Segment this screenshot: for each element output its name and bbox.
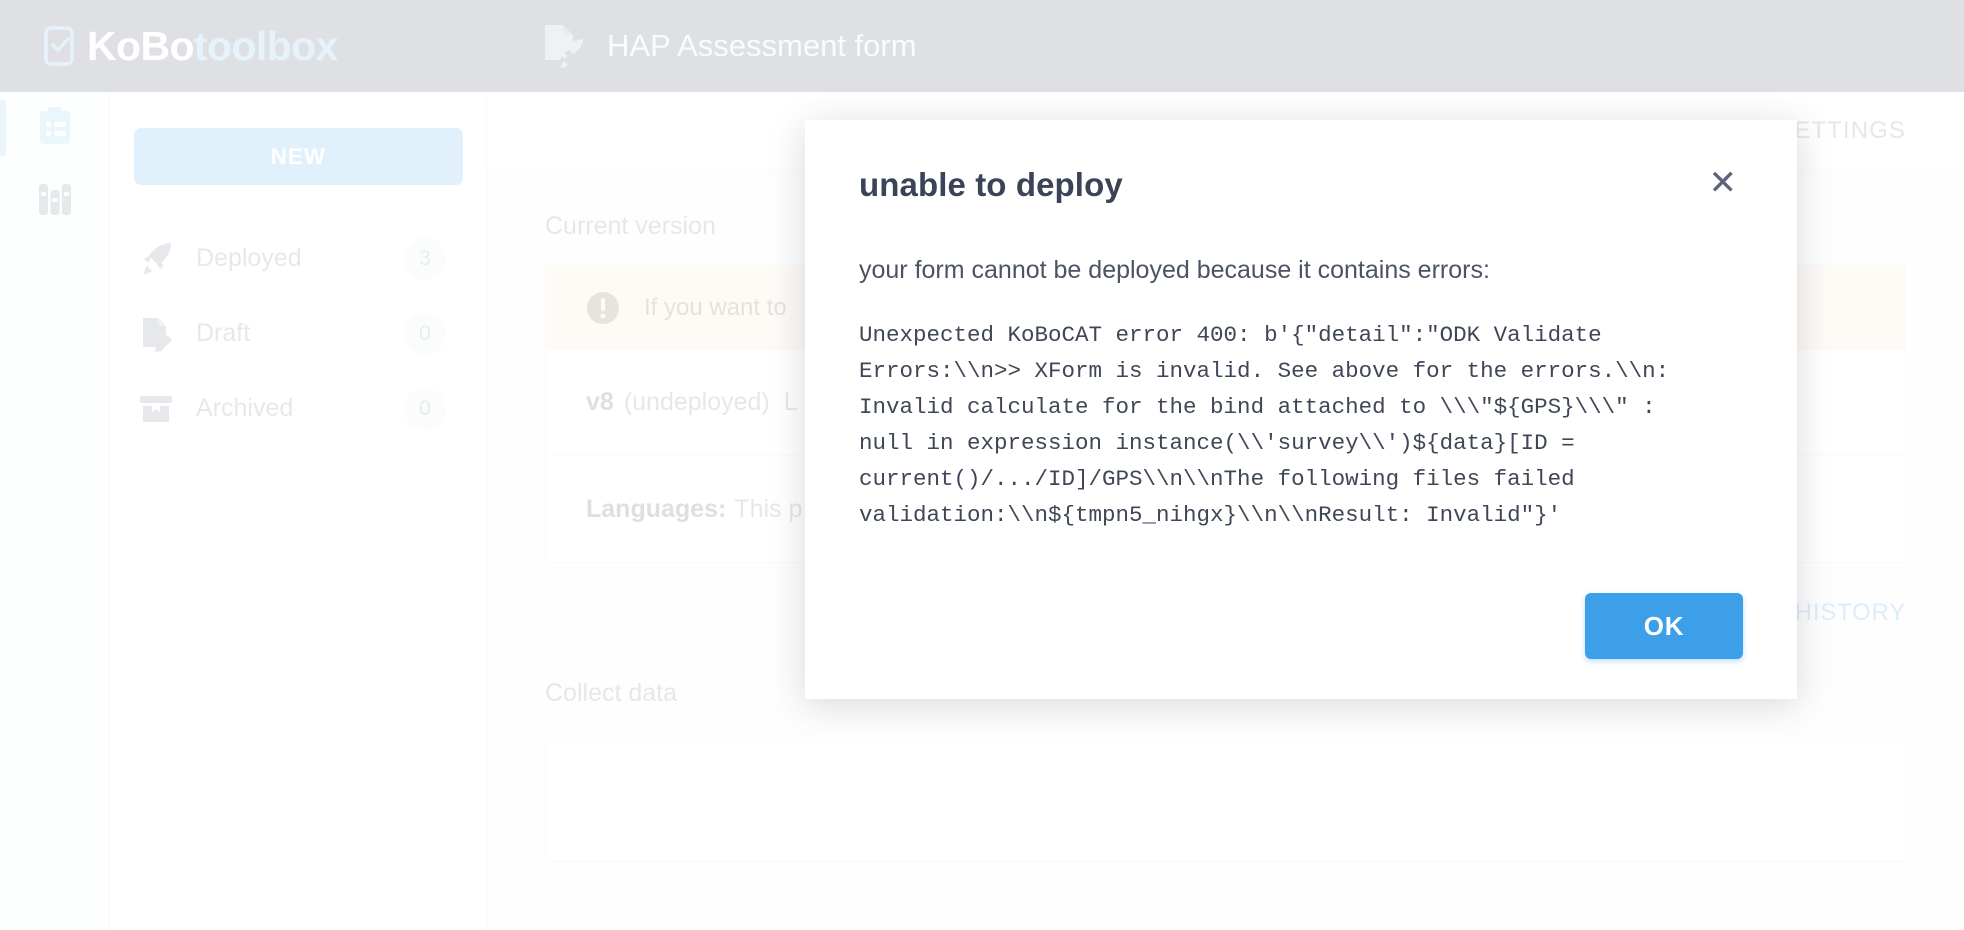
dialog-title: unable to deploy (859, 162, 1123, 204)
close-icon[interactable]: ✕ (1703, 162, 1744, 204)
app-root: SETTINGS Current version If you want to … (0, 0, 1964, 930)
unable-to-deploy-dialog: unable to deploy ✕ your form cannot be d… (805, 120, 1797, 699)
dialog-lead-text: your form cannot be deployed because it … (859, 256, 1743, 285)
dialog-error-text: Unexpected KoBoCAT error 400: b'{"detail… (859, 317, 1699, 533)
dialog-header: unable to deploy ✕ (859, 162, 1743, 204)
dialog-footer: OK (859, 593, 1743, 659)
ok-button[interactable]: OK (1585, 593, 1743, 659)
